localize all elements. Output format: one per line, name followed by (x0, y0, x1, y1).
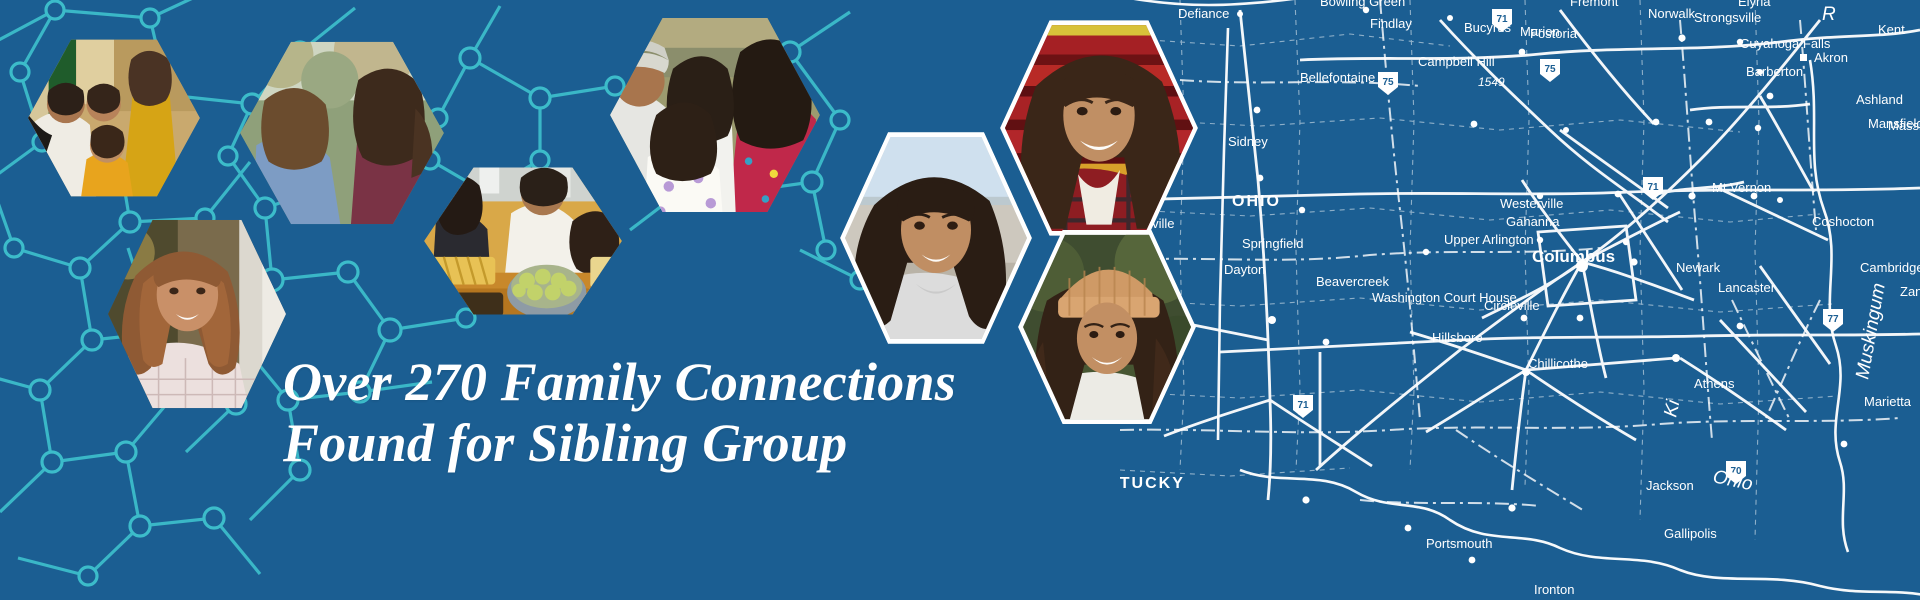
map-city-coshocton: Coshocton (1812, 214, 1874, 229)
headline-line-1: Over 270 Family Connections (283, 352, 1043, 413)
map-city-cambridge: Cambridge (1860, 260, 1920, 275)
map-city-athens: Athens (1694, 376, 1735, 391)
map-city-ashland: Ashland (1856, 92, 1903, 107)
map-city-campbell-hill: Campbell Hill (1418, 54, 1495, 69)
map-city-portsmouth: Portsmouth (1426, 536, 1492, 551)
map-city-findlay: Findlay (1370, 16, 1412, 31)
map-city-zanesville: Zanesville (1900, 284, 1920, 299)
map-city-gallipolis: Gallipolis (1664, 526, 1717, 541)
map-city-sidney: Sidney (1228, 134, 1268, 149)
family-connections-banner: 75 75 71 71 (0, 0, 1920, 600)
map-city-hillsboro: Hillsboro (1432, 330, 1483, 345)
map-city-ironton: Ironton (1534, 582, 1574, 597)
map-city-elyria: Elyria (1738, 0, 1771, 9)
map-city-defiance: Defiance (1178, 6, 1229, 21)
shield-71-c: 71 (1297, 400, 1309, 411)
map-city-newark: Newark (1676, 260, 1721, 275)
map-city-lancaster: Lancaster (1718, 280, 1776, 295)
map-city-westerville: Westerville (1500, 196, 1563, 211)
map-city-kent: Kent (1878, 22, 1905, 37)
map-city-bellefontaine: Bellefontaine (1300, 70, 1375, 85)
map-label-elevation: 1549 (1478, 75, 1505, 89)
map-city-akron: Akron (1814, 50, 1848, 65)
map-label-kentucky: KENTUCKY (1120, 475, 1185, 492)
shield-77: 77 (1827, 314, 1839, 325)
map-city-norwalk: Norwalk (1648, 6, 1695, 21)
map-city-columbus: Columbus (1532, 247, 1615, 266)
map-city-cuyahoga-falls: Cuyahoga Falls (1740, 36, 1831, 51)
shield-75-b: 75 (1382, 77, 1394, 88)
map-label-river-r: R (1822, 4, 1836, 25)
map-city-bowling-green: Bowling Green (1320, 0, 1405, 9)
map-label-ohio: OHIO (1232, 193, 1281, 210)
map-city-beavercreek: Beavercreek (1316, 274, 1389, 289)
shield-75: 75 (1544, 64, 1556, 75)
page-title: Over 270 Family Connections Found for Si… (283, 352, 1043, 474)
map-city-strongsville: Strongsville (1694, 10, 1761, 25)
shield-71-b: 71 (1647, 182, 1659, 193)
map-city-jackson: Jackson (1646, 478, 1694, 493)
map-city-bucyrus: Bucyrus (1464, 20, 1511, 35)
map-city-mt-vernon: Mt Vernon (1712, 180, 1771, 195)
map-city-circleville: Circleville (1484, 298, 1540, 313)
map-city-marietta: Marietta (1864, 394, 1912, 409)
headline-line-2: Found for Sibling Group (283, 413, 1043, 474)
map-city-fremont: Fremont (1570, 0, 1619, 9)
map-city-chillicothe: Chillicothe (1528, 356, 1588, 371)
map-city-massillon: Massillon (1888, 118, 1920, 133)
map-city-marion: Marion (1520, 24, 1560, 39)
ohio-map-graphic: 75 75 71 71 (1120, 0, 1920, 600)
map-city-upper-arlington: Upper Arlington (1444, 232, 1534, 247)
map-city-barberton: Barberton (1746, 64, 1803, 79)
map-city-springfield: Springfield (1242, 236, 1303, 251)
map-city-gahanna: Gahanna (1506, 214, 1560, 229)
map-city-dayton: Dayton (1224, 262, 1265, 277)
